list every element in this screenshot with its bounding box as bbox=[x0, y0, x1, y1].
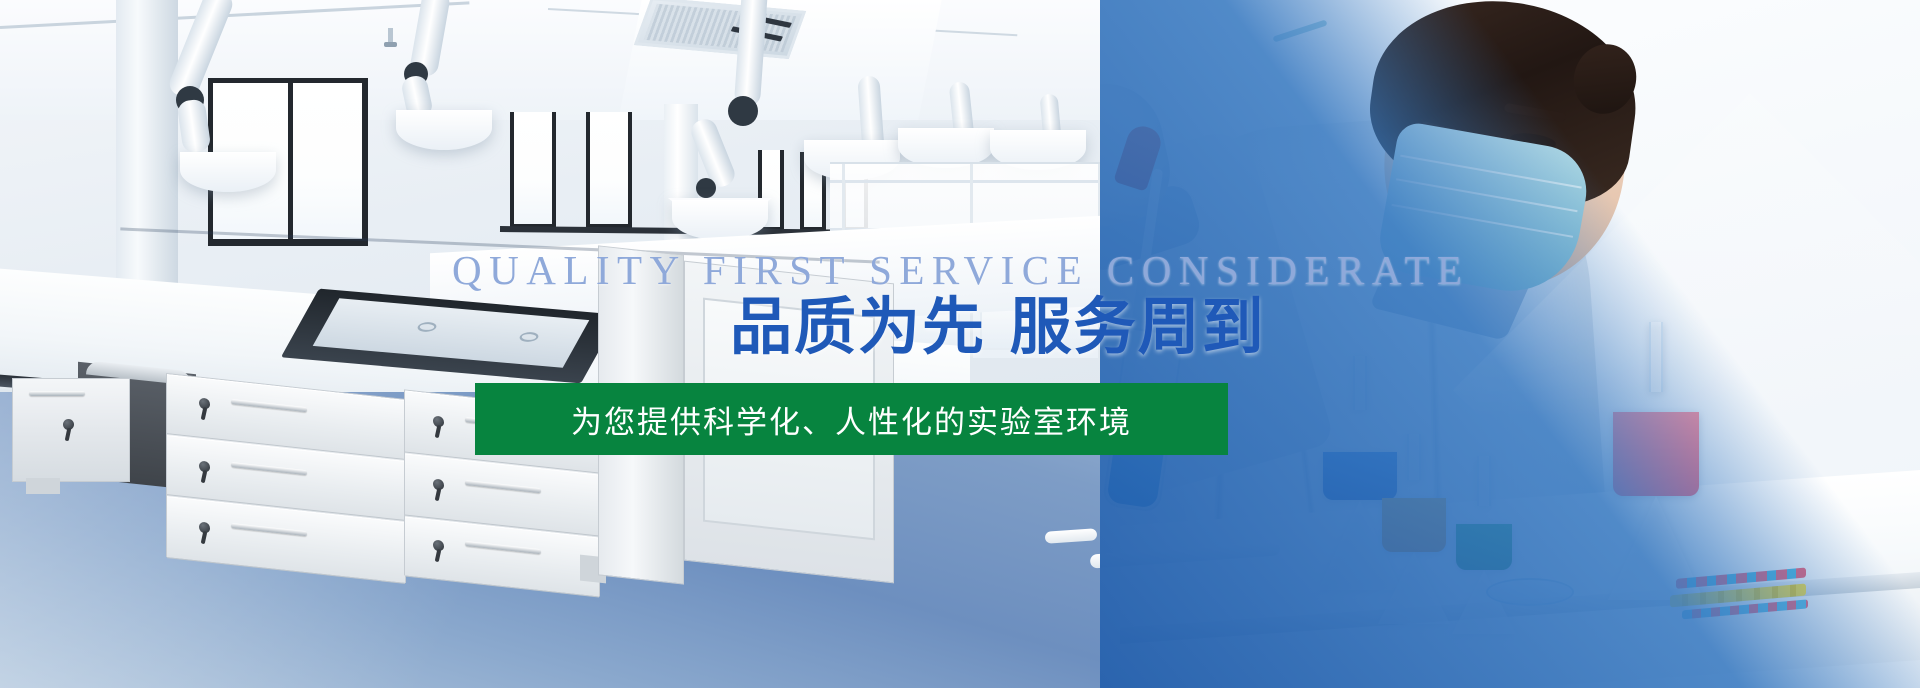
banner-subtitle-bar: 为您提供科学化、人性化的实验室环境 bbox=[475, 383, 1228, 455]
banner-subtitle-text: 为您提供科学化、人性化的实验室环境 bbox=[571, 397, 1132, 442]
banner-eyebrow-text: QUALITY FIRST SERVICE CONSIDERATE bbox=[452, 246, 1470, 294]
banner-headline: 品质为先 服务周到 bbox=[730, 296, 1266, 358]
banner-copy: QUALITY FIRST SERVICE CONSIDERATE 品质为先 服… bbox=[0, 0, 1920, 688]
hero-banner: QUALITY FIRST SERVICE CONSIDERATE 品质为先 服… bbox=[0, 0, 1920, 688]
